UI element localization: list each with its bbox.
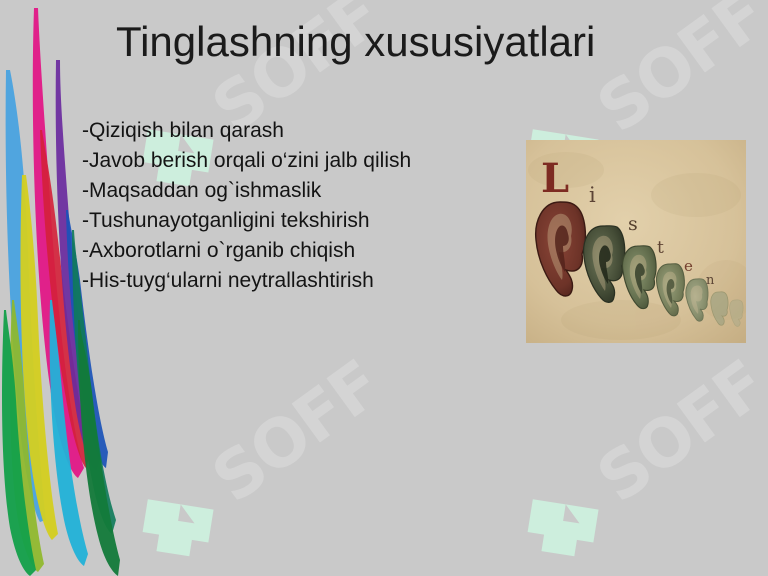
- watermark-tile: SOFF: [495, 314, 768, 576]
- bullet-item: -His-tuyg‘ularni neytrallashtirish: [82, 266, 411, 296]
- letter-n: n: [706, 273, 715, 288]
- soff-logo-icon: [126, 463, 243, 576]
- blade-darkgreen: [78, 320, 120, 576]
- letter-i: i: [589, 183, 596, 207]
- bullet-item: -Qiziqish bilan qarash: [82, 116, 411, 146]
- watermark-text: SOFF: [587, 351, 768, 514]
- bullet-list: -Qiziqish bilan qarash -Javob berish orq…: [82, 116, 411, 296]
- letter-t: t: [657, 238, 664, 258]
- bullet-item: -Javob berish orqali o‘zini jalb qilish: [82, 146, 411, 176]
- listen-ears-image: L i s t e n: [526, 140, 746, 343]
- letter-e: e: [684, 257, 693, 275]
- bullet-item: -Maqsaddan og`ishmaslik: [82, 176, 411, 206]
- bullet-item: -Tushunayotganligini tekshirish: [82, 206, 411, 236]
- slide: SOFF SOFF SOFF SOFF SOFF: [0, 0, 768, 576]
- soff-logo-icon: [511, 463, 628, 576]
- watermark-text: SOFF: [202, 351, 391, 514]
- watermark-tile: SOFF: [110, 314, 441, 576]
- bullet-item: -Axborotlarni o`rganib chiqish: [82, 236, 411, 266]
- watermark-text: SOFF: [587, 0, 768, 144]
- letter-L: L: [541, 155, 569, 202]
- page-title: Tinglashning xususiyatlari: [116, 18, 595, 66]
- letter-s: s: [628, 213, 638, 235]
- listen-ears-illustration: L i s t e n: [526, 140, 746, 343]
